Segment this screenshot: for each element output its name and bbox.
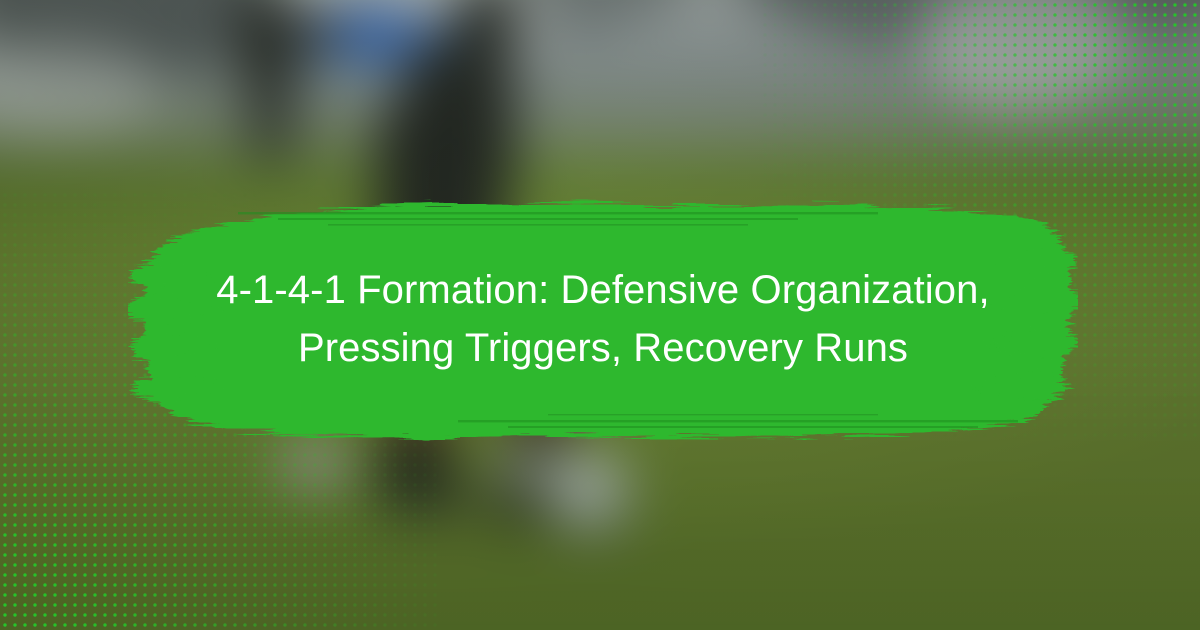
banner-title: 4-1-4-1 Formation: Defensive Organizatio… [128,188,1078,450]
social-share-banner: 4-1-4-1 Formation: Defensive Organizatio… [0,0,1200,630]
title-line-1: 4-1-4-1 Formation: Defensive Organizatio… [216,261,989,319]
title-line-2: Pressing Triggers, Recovery Runs [298,319,908,377]
title-brush-band: 4-1-4-1 Formation: Defensive Organizatio… [128,188,1078,450]
